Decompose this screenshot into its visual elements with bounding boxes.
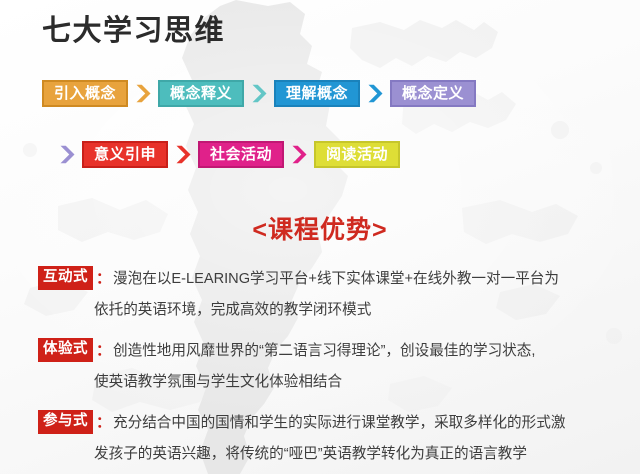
flow-badge-reading-activity[interactable]: 阅读活动 <box>314 141 400 168</box>
advantage-line-2: 依托的英语环境，完成高效的教学闭环模式 <box>38 295 618 326</box>
heading-text: 课程优势 <box>268 216 372 244</box>
advantage-tag-experiential: 体验式 <box>38 338 93 362</box>
page-title: 七大学习思维 <box>42 17 225 46</box>
flow-badge-concept-explanation[interactable]: 概念释义 <box>158 80 244 107</box>
advantage-line-1: 漫泡在以E-LEARING学习平台+线下实体课堂+在线外教一对一平台为 <box>113 271 559 287</box>
advantage-item: 体验式：创造性地用风靡世界的“第二语言习得理论”，创设最佳的学习状态, 使英语教… <box>38 335 618 398</box>
heading-close-bracket: > <box>372 216 388 244</box>
advantage-colon: ： <box>96 342 111 359</box>
advantage-line-1: 充分结合中国的国情和学生的实际进行课堂教学，采取多样化的形式激 <box>113 415 565 431</box>
poster-canvas: 七大学习思维 引入概念 概念释义 理解概念 概念定义 意义引申 社会活动 阅读活… <box>0 0 640 474</box>
advantage-item: 互动式：漫泡在以E-LEARING学习平台+线下实体课堂+在线外教一对一平台为 … <box>38 263 618 326</box>
flow-badge-social-activity[interactable]: 社会活动 <box>198 141 284 168</box>
advantage-line-2: 发孩子的英语兴趣，将传统的“哑巴”英语教学转化为真正的语言教学 <box>38 439 618 470</box>
chevron-right-icon <box>168 141 198 168</box>
advantage-tag-participatory: 参与式 <box>38 410 93 434</box>
flow-badge-intro-concept[interactable]: 引入概念 <box>42 80 128 107</box>
flow-badge-meaning-extension[interactable]: 意义引申 <box>82 141 168 168</box>
chevron-right-icon <box>52 141 82 168</box>
chevron-right-icon <box>360 80 390 107</box>
chevron-right-icon <box>284 141 314 168</box>
advantage-paragraph: 体验式：创造性地用风靡世界的“第二语言习得理论”，创设最佳的学习状态, 使英语教… <box>38 335 618 398</box>
learning-flow-row-1: 引入概念 概念释义 理解概念 概念定义 <box>42 80 476 107</box>
advantages-list: 互动式：漫泡在以E-LEARING学习平台+线下实体课堂+在线外教一对一平台为 … <box>38 263 618 474</box>
advantage-colon: ： <box>96 270 111 287</box>
section-heading: <课程优势> <box>0 218 640 243</box>
advantage-colon: ： <box>96 414 111 431</box>
advantage-line-1: 创造性地用风靡世界的“第二语言习得理论”，创设最佳的学习状态, <box>113 343 535 359</box>
chevron-right-icon <box>128 80 158 107</box>
flow-badge-understand-concept[interactable]: 理解概念 <box>274 80 360 107</box>
advantage-paragraph: 参与式：充分结合中国的国情和学生的实际进行课堂教学，采取多样化的形式激 发孩子的… <box>38 407 618 470</box>
advantage-item: 参与式：充分结合中国的国情和学生的实际进行课堂教学，采取多样化的形式激 发孩子的… <box>38 407 618 470</box>
flow-badge-concept-definition[interactable]: 概念定义 <box>390 80 476 107</box>
chevron-right-icon <box>244 80 274 107</box>
learning-flow-row-2: 意义引申 社会活动 阅读活动 <box>52 141 400 168</box>
heading-open-bracket: < <box>252 216 268 244</box>
advantage-paragraph: 互动式：漫泡在以E-LEARING学习平台+线下实体课堂+在线外教一对一平台为 … <box>38 263 618 326</box>
advantage-tag-interactive: 互动式 <box>38 266 93 290</box>
advantage-line-2: 使英语教学氛围与学生文化体验相结合 <box>38 367 618 398</box>
